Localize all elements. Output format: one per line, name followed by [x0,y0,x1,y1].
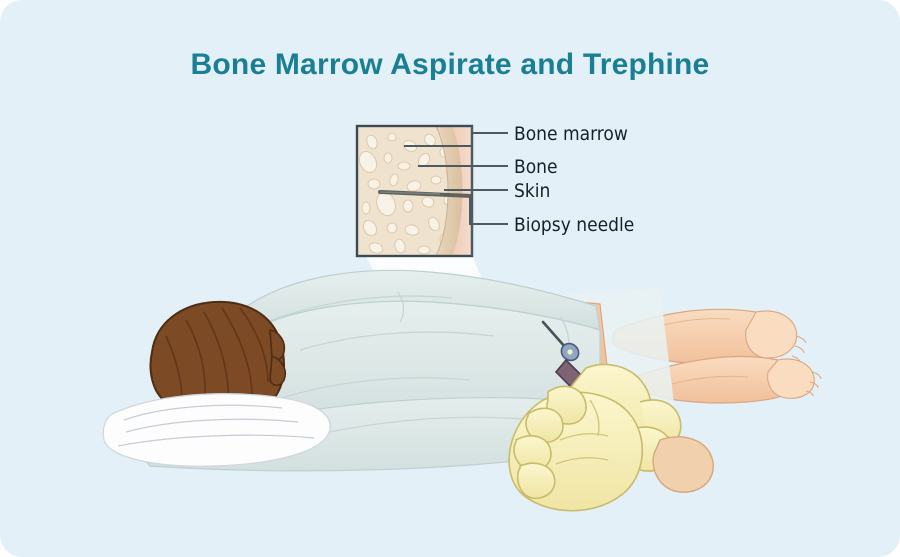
label-biopsy-needle: Biopsy needle [514,214,634,236]
inset-labels: Bone marrow Bone Skin Biopsy needle [514,123,634,236]
label-bone-marrow: Bone marrow [514,123,628,145]
label-bone: Bone [514,156,558,178]
patient-scene [103,270,821,510]
illustration-card: Bone Marrow Aspirate and Trephine [0,0,900,557]
medical-illustration: Bone marrow Bone Skin Biopsy needle [0,0,900,557]
label-skin: Skin [514,180,550,202]
